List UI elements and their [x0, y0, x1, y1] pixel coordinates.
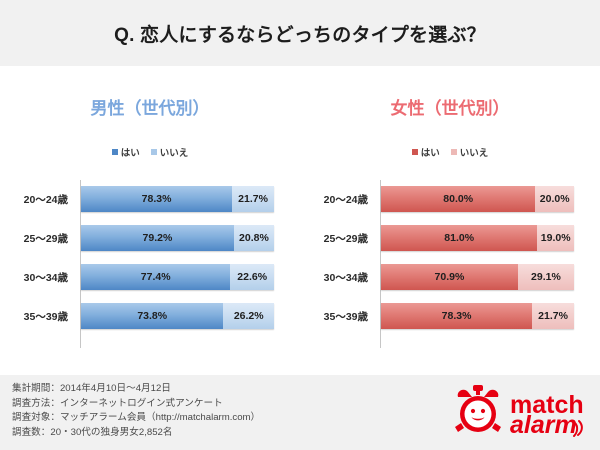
- bar-value-label: 79.2%: [143, 232, 173, 244]
- bar-segment-no: 21.7%: [232, 186, 274, 212]
- legend-swatch-yes-female: [412, 149, 418, 155]
- bar-segment-no: 20.8%: [234, 225, 274, 251]
- stacked-bar: 70.9%29.1%: [381, 264, 574, 290]
- category-label: 35〜39歳: [0, 309, 74, 324]
- bar-row: 35〜39歳78.3%21.7%: [300, 303, 600, 329]
- chart-title-male: 男性（世代別）: [0, 94, 300, 119]
- category-label: 30〜34歳: [300, 270, 374, 285]
- chart-panel-female: 女性（世代別） はい いいえ 20〜24歳80.0%20.0%25〜29歳81.…: [300, 66, 600, 375]
- bar-row: 30〜34歳70.9%29.1%: [300, 264, 600, 290]
- footer-band: 集計期間：2014年4月10日〜4月12日調査方法：インターネットログイン式アン…: [0, 375, 600, 450]
- category-label: 20〜24歳: [0, 192, 74, 207]
- bar-segment-yes: 78.3%: [81, 186, 232, 212]
- survey-note-line: 調査方法：インターネットログイン式アンケート: [12, 397, 260, 412]
- bar-segment-no: 29.1%: [518, 264, 574, 290]
- legend-male: はい いいえ: [0, 145, 300, 159]
- legend-label-no-female: いいえ: [460, 145, 489, 159]
- bar-segment-yes: 80.0%: [381, 186, 535, 212]
- bar-value-label: 26.2%: [234, 310, 264, 322]
- bar-segment-yes: 70.9%: [381, 264, 518, 290]
- bar-segment-yes: 79.2%: [81, 225, 234, 251]
- survey-notes: 集計期間：2014年4月10日〜4月12日調査方法：インターネットログイン式アン…: [12, 382, 260, 440]
- category-label: 25〜29歳: [300, 231, 374, 246]
- legend-swatch-no-female: [451, 149, 457, 155]
- alarm-clock-icon: match alarm: [452, 383, 592, 443]
- bar-value-label: 29.1%: [531, 271, 561, 283]
- bar-value-label: 73.8%: [137, 310, 167, 322]
- survey-note-line: 調査対象：マッチアラーム会員（http://matchalarm.com）: [12, 411, 260, 426]
- legend-label-no-male: いいえ: [160, 145, 189, 159]
- page-title: Q. 恋人にするならどっちのタイプを選ぶ？: [114, 20, 486, 47]
- bar-segment-yes: 73.8%: [81, 303, 223, 329]
- bar-value-label: 78.3%: [442, 310, 472, 322]
- bar-row: 25〜29歳81.0%19.0%: [300, 225, 600, 251]
- bar-value-label: 77.4%: [141, 271, 171, 283]
- category-label: 25〜29歳: [0, 231, 74, 246]
- bar-segment-no: 20.0%: [535, 186, 574, 212]
- category-label: 20〜24歳: [300, 192, 374, 207]
- legend-item-no-male: いいえ: [151, 145, 189, 159]
- bar-row: 35〜39歳73.8%26.2%: [0, 303, 300, 329]
- legend-swatch-no-male: [151, 149, 157, 155]
- bar-segment-no: 21.7%: [532, 303, 574, 329]
- bar-value-label: 21.7%: [538, 310, 568, 322]
- bar-row: 25〜29歳79.2%20.8%: [0, 225, 300, 251]
- legend-item-yes-female: はい: [412, 145, 440, 159]
- bar-value-label: 22.6%: [237, 271, 267, 283]
- bar-value-label: 20.8%: [239, 232, 269, 244]
- stacked-bar: 80.0%20.0%: [381, 186, 574, 212]
- bar-value-label: 21.7%: [238, 193, 268, 205]
- bar-segment-yes: 78.3%: [381, 303, 532, 329]
- stacked-bar: 78.3%21.7%: [81, 186, 274, 212]
- legend-female: はい いいえ: [300, 145, 600, 159]
- legend-item-no-female: いいえ: [451, 145, 489, 159]
- header-band: Q. 恋人にするならどっちのタイプを選ぶ？: [0, 0, 600, 66]
- stacked-bar: 73.8%26.2%: [81, 303, 274, 329]
- infographic-page: Q. 恋人にするならどっちのタイプを選ぶ？ 男性（世代別） はい いいえ 20〜…: [0, 0, 600, 450]
- legend-label-yes-male: はい: [121, 145, 140, 159]
- bar-segment-no: 26.2%: [223, 303, 274, 329]
- bar-value-label: 70.9%: [435, 271, 465, 283]
- chart-panel-male: 男性（世代別） はい いいえ 20〜24歳78.3%21.7%25〜29歳79.…: [0, 66, 300, 375]
- bar-value-label: 20.0%: [540, 193, 570, 205]
- survey-note-line: 調査数：20・30代の独身男女2,852名: [12, 426, 260, 441]
- logo-text-alarm: alarm: [510, 411, 577, 439]
- bar-row: 20〜24歳78.3%21.7%: [0, 186, 300, 212]
- bar-segment-yes: 81.0%: [381, 225, 537, 251]
- bar-value-label: 78.3%: [142, 193, 172, 205]
- legend-item-yes-male: はい: [112, 145, 140, 159]
- survey-note-line: 集計期間：2014年4月10日〜4月12日: [12, 382, 260, 397]
- bar-value-label: 19.0%: [541, 232, 571, 244]
- stacked-bar: 79.2%20.8%: [81, 225, 274, 251]
- bar-rows-female: 20〜24歳80.0%20.0%25〜29歳81.0%19.0%30〜34歳70…: [300, 174, 600, 364]
- stacked-bar: 81.0%19.0%: [381, 225, 574, 251]
- stacked-bar: 77.4%22.6%: [81, 264, 274, 290]
- legend-label-yes-female: はい: [421, 145, 440, 159]
- bar-rows-male: 20〜24歳78.3%21.7%25〜29歳79.2%20.8%30〜34歳77…: [0, 174, 300, 364]
- charts-region: 男性（世代別） はい いいえ 20〜24歳78.3%21.7%25〜29歳79.…: [0, 66, 600, 375]
- bar-value-label: 81.0%: [444, 232, 474, 244]
- bar-segment-no: 19.0%: [537, 225, 574, 251]
- bar-row: 20〜24歳80.0%20.0%: [300, 186, 600, 212]
- bar-value-label: 80.0%: [443, 193, 473, 205]
- bar-row: 30〜34歳77.4%22.6%: [0, 264, 300, 290]
- bar-segment-yes: 77.4%: [81, 264, 230, 290]
- plot-area-male: 20〜24歳78.3%21.7%25〜29歳79.2%20.8%30〜34歳77…: [0, 174, 300, 364]
- matchalarm-logo: match alarm: [452, 383, 592, 443]
- chart-title-female: 女性（世代別）: [300, 94, 600, 119]
- category-label: 35〜39歳: [300, 309, 374, 324]
- bar-segment-no: 22.6%: [230, 264, 274, 290]
- category-label: 30〜34歳: [0, 270, 74, 285]
- legend-swatch-yes-male: [112, 149, 118, 155]
- stacked-bar: 78.3%21.7%: [381, 303, 574, 329]
- plot-area-female: 20〜24歳80.0%20.0%25〜29歳81.0%19.0%30〜34歳70…: [300, 174, 600, 364]
